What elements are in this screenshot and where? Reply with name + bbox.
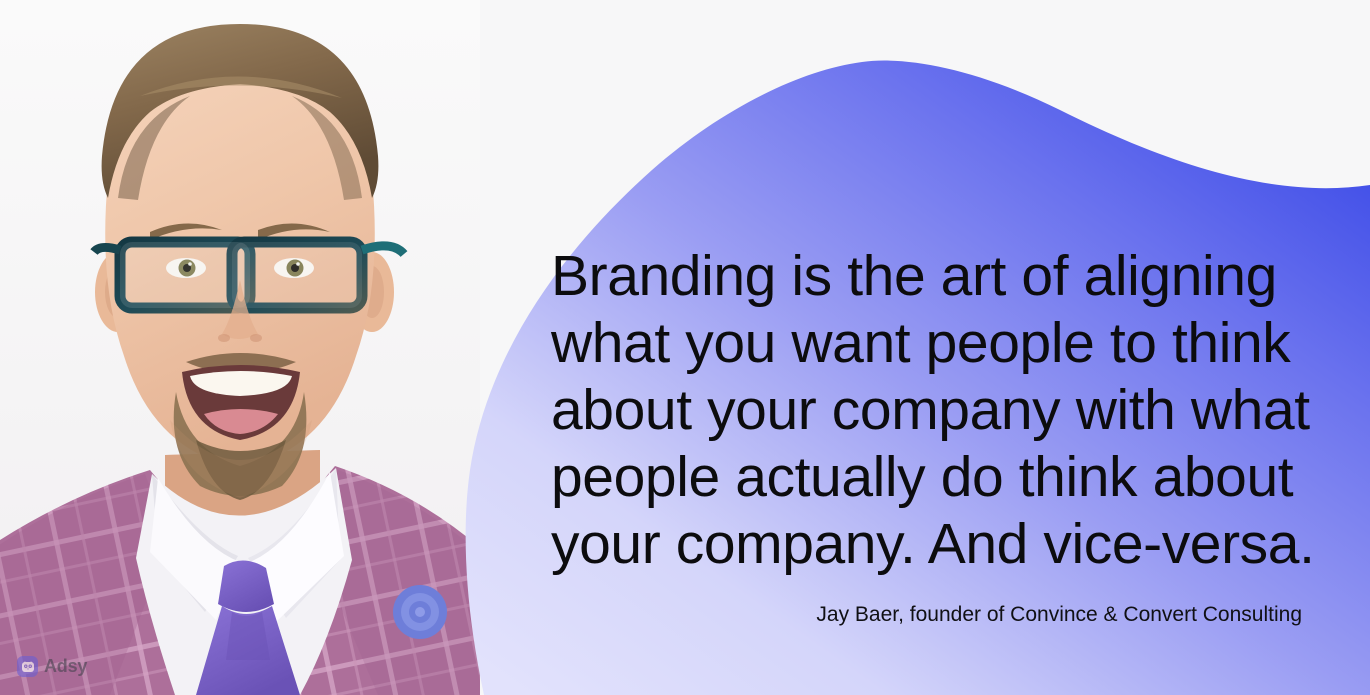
quote-line-5: your company. And vice-versa. <box>551 511 1321 578</box>
quote-attribution: Jay Baer, founder of Convince & Convert … <box>816 602 1302 628</box>
quote-line-4: people actually do think about <box>551 444 1321 511</box>
adsy-logo[interactable]: Adsy <box>17 656 87 677</box>
adsy-logo-text: Adsy <box>44 656 87 677</box>
portrait-photo <box>0 0 480 695</box>
glasses <box>94 242 404 308</box>
quote-line-2: what you want people to think <box>551 310 1321 377</box>
quote-line-1: Branding is the art of aligning <box>551 243 1321 310</box>
owl-icon <box>17 656 38 677</box>
portrait-layers <box>0 0 480 695</box>
quote-line-3: about your company with what <box>551 377 1321 444</box>
lapel-flower <box>393 585 447 639</box>
quote-card: Branding is the art of aligning what you… <box>0 0 1370 695</box>
quote-text: Branding is the art of aligning what you… <box>551 243 1321 578</box>
